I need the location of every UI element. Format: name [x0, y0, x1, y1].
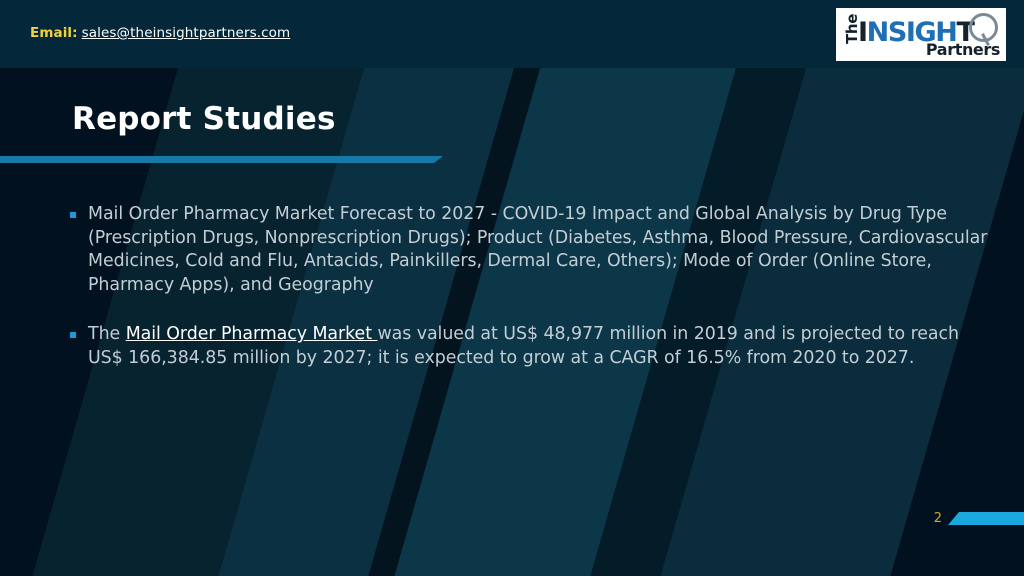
footer-accent-bar	[948, 512, 1024, 525]
bullet-square-icon	[70, 212, 76, 218]
title-accent-rule	[0, 156, 443, 163]
slide-body: Mail Order Pharmacy Market Forecast to 2…	[70, 203, 995, 397]
email-link[interactable]: sales@theinsightpartners.com	[82, 25, 291, 41]
bullet-text-market-value: The Mail Order Pharmacy Market was value…	[88, 323, 995, 370]
email-label: Email:	[30, 25, 78, 41]
list-item: Mail Order Pharmacy Market Forecast to 2…	[70, 203, 995, 297]
logo-insight-i: I	[858, 17, 867, 48]
bullet-square-icon	[70, 332, 76, 338]
contact-email: Email:sales@theinsightpartners.com	[30, 25, 290, 41]
logo-partners-text: Partners	[926, 40, 1000, 59]
bullet-text-report-title: Mail Order Pharmacy Market Forecast to 2…	[88, 203, 995, 297]
list-item: The Mail Order Pharmacy Market was value…	[70, 323, 995, 370]
company-logo[interactable]: The INSIGHT Partners	[836, 8, 1006, 61]
page-number: 2	[934, 511, 942, 526]
bullet-lead-text: The	[88, 324, 126, 344]
slide-canvas: Email:sales@theinsightpartners.com The I…	[0, 0, 1024, 576]
page-title: Report Studies	[72, 101, 336, 137]
market-name-link[interactable]: Mail Order Pharmacy Market	[126, 324, 378, 344]
